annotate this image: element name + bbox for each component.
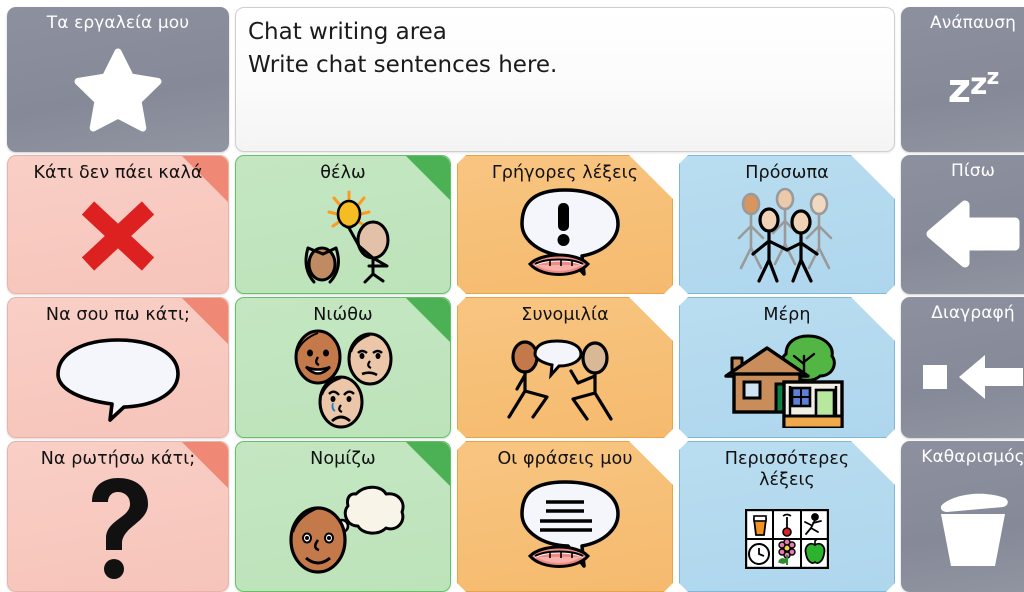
- cell-my-phrases[interactable]: Οι φράσεις μου: [457, 441, 673, 592]
- red-cross-icon: [8, 184, 228, 293]
- chat-writing-area[interactable]: Chat writing area Write chat sentences h…: [235, 7, 895, 152]
- my-tools-label: Τα εργαλεία μου: [7, 7, 229, 33]
- cell-more-words[interactable]: Περισσότερες λέξεις: [679, 441, 895, 592]
- face-thought-bubble-icon: [236, 470, 450, 591]
- house-tree-room-icon: [680, 326, 894, 437]
- back-label: Πίσω: [901, 155, 1024, 181]
- zzz-z1: z: [948, 69, 970, 109]
- cell-tell-you-something[interactable]: Να σου πω κάτι;: [7, 297, 229, 438]
- zzz-z2: z: [970, 70, 986, 100]
- person-reaching-light-icon: [236, 184, 450, 293]
- cell-label: Νομίζω: [236, 442, 450, 470]
- zzz-z3: z: [986, 67, 998, 89]
- three-emotion-faces-icon: [236, 326, 450, 437]
- delete-label: Διαγραφή: [901, 297, 1024, 323]
- communication-board: Τα εργαλεία μου Chat writing area Write …: [0, 0, 1024, 576]
- cell-conversation[interactable]: Συνομιλία: [457, 297, 673, 438]
- mouth-exclamation-bubble-icon: [458, 184, 672, 293]
- speech-bubble-icon: [8, 326, 228, 437]
- cell-label: Περισσότερες λέξεις: [680, 442, 894, 490]
- cell-label: Γρήγορες λέξεις: [458, 156, 672, 184]
- cell-i-feel[interactable]: Νιώθω: [235, 297, 451, 438]
- cell-i-think[interactable]: Νομίζω: [235, 441, 451, 592]
- clear-label: Καθαρισμός: [901, 441, 1024, 467]
- cell-label: Κάτι δεν πάει καλά: [8, 156, 228, 184]
- cell-label: Μέρη: [680, 298, 894, 326]
- zzz-sleep-icon: z z z: [901, 33, 1024, 152]
- group-of-people-icon: [680, 184, 894, 293]
- cell-something-is-wrong[interactable]: Κάτι δεν πάει καλά: [7, 155, 229, 294]
- cell-people[interactable]: Πρόσωπα: [679, 155, 895, 294]
- backspace-icon: [901, 323, 1024, 438]
- cell-label: Να ρωτήσω κάτι;: [8, 442, 228, 470]
- my-tools-button[interactable]: Τα εργαλεία μου: [7, 7, 229, 152]
- pause-button[interactable]: Ανάπαυση z z z: [901, 7, 1024, 152]
- delete-button[interactable]: Διαγραφή: [901, 297, 1024, 438]
- trash-can-icon: [901, 467, 1024, 592]
- chat-line-1: Chat writing area: [248, 16, 882, 49]
- cell-ask-something[interactable]: Να ρωτήσω κάτι;: [7, 441, 229, 592]
- chat-line-2: Write chat sentences here.: [248, 49, 882, 82]
- cell-places[interactable]: Μέρη: [679, 297, 895, 438]
- arrow-left-icon: [901, 181, 1024, 294]
- two-people-talking-icon: [458, 326, 672, 437]
- cell-label: Να σου πω κάτι;: [8, 298, 228, 326]
- cell-quick-words[interactable]: Γρήγορες λέξεις: [457, 155, 673, 294]
- cell-label: Πρόσωπα: [680, 156, 894, 184]
- mouth-text-bubble-icon: [458, 470, 672, 591]
- pause-label: Ανάπαυση: [901, 7, 1024, 33]
- cell-label: Συνομιλία: [458, 298, 672, 326]
- cell-label: Οι φράσεις μου: [458, 442, 672, 470]
- star-icon: [7, 33, 229, 152]
- clear-button[interactable]: Καθαρισμός: [901, 441, 1024, 592]
- cell-i-want[interactable]: θέλω: [235, 155, 451, 294]
- back-button[interactable]: Πίσω: [901, 155, 1024, 294]
- cell-label: Νιώθω: [236, 298, 450, 326]
- cell-label: θέλω: [236, 156, 450, 184]
- question-mark-icon: [8, 470, 228, 591]
